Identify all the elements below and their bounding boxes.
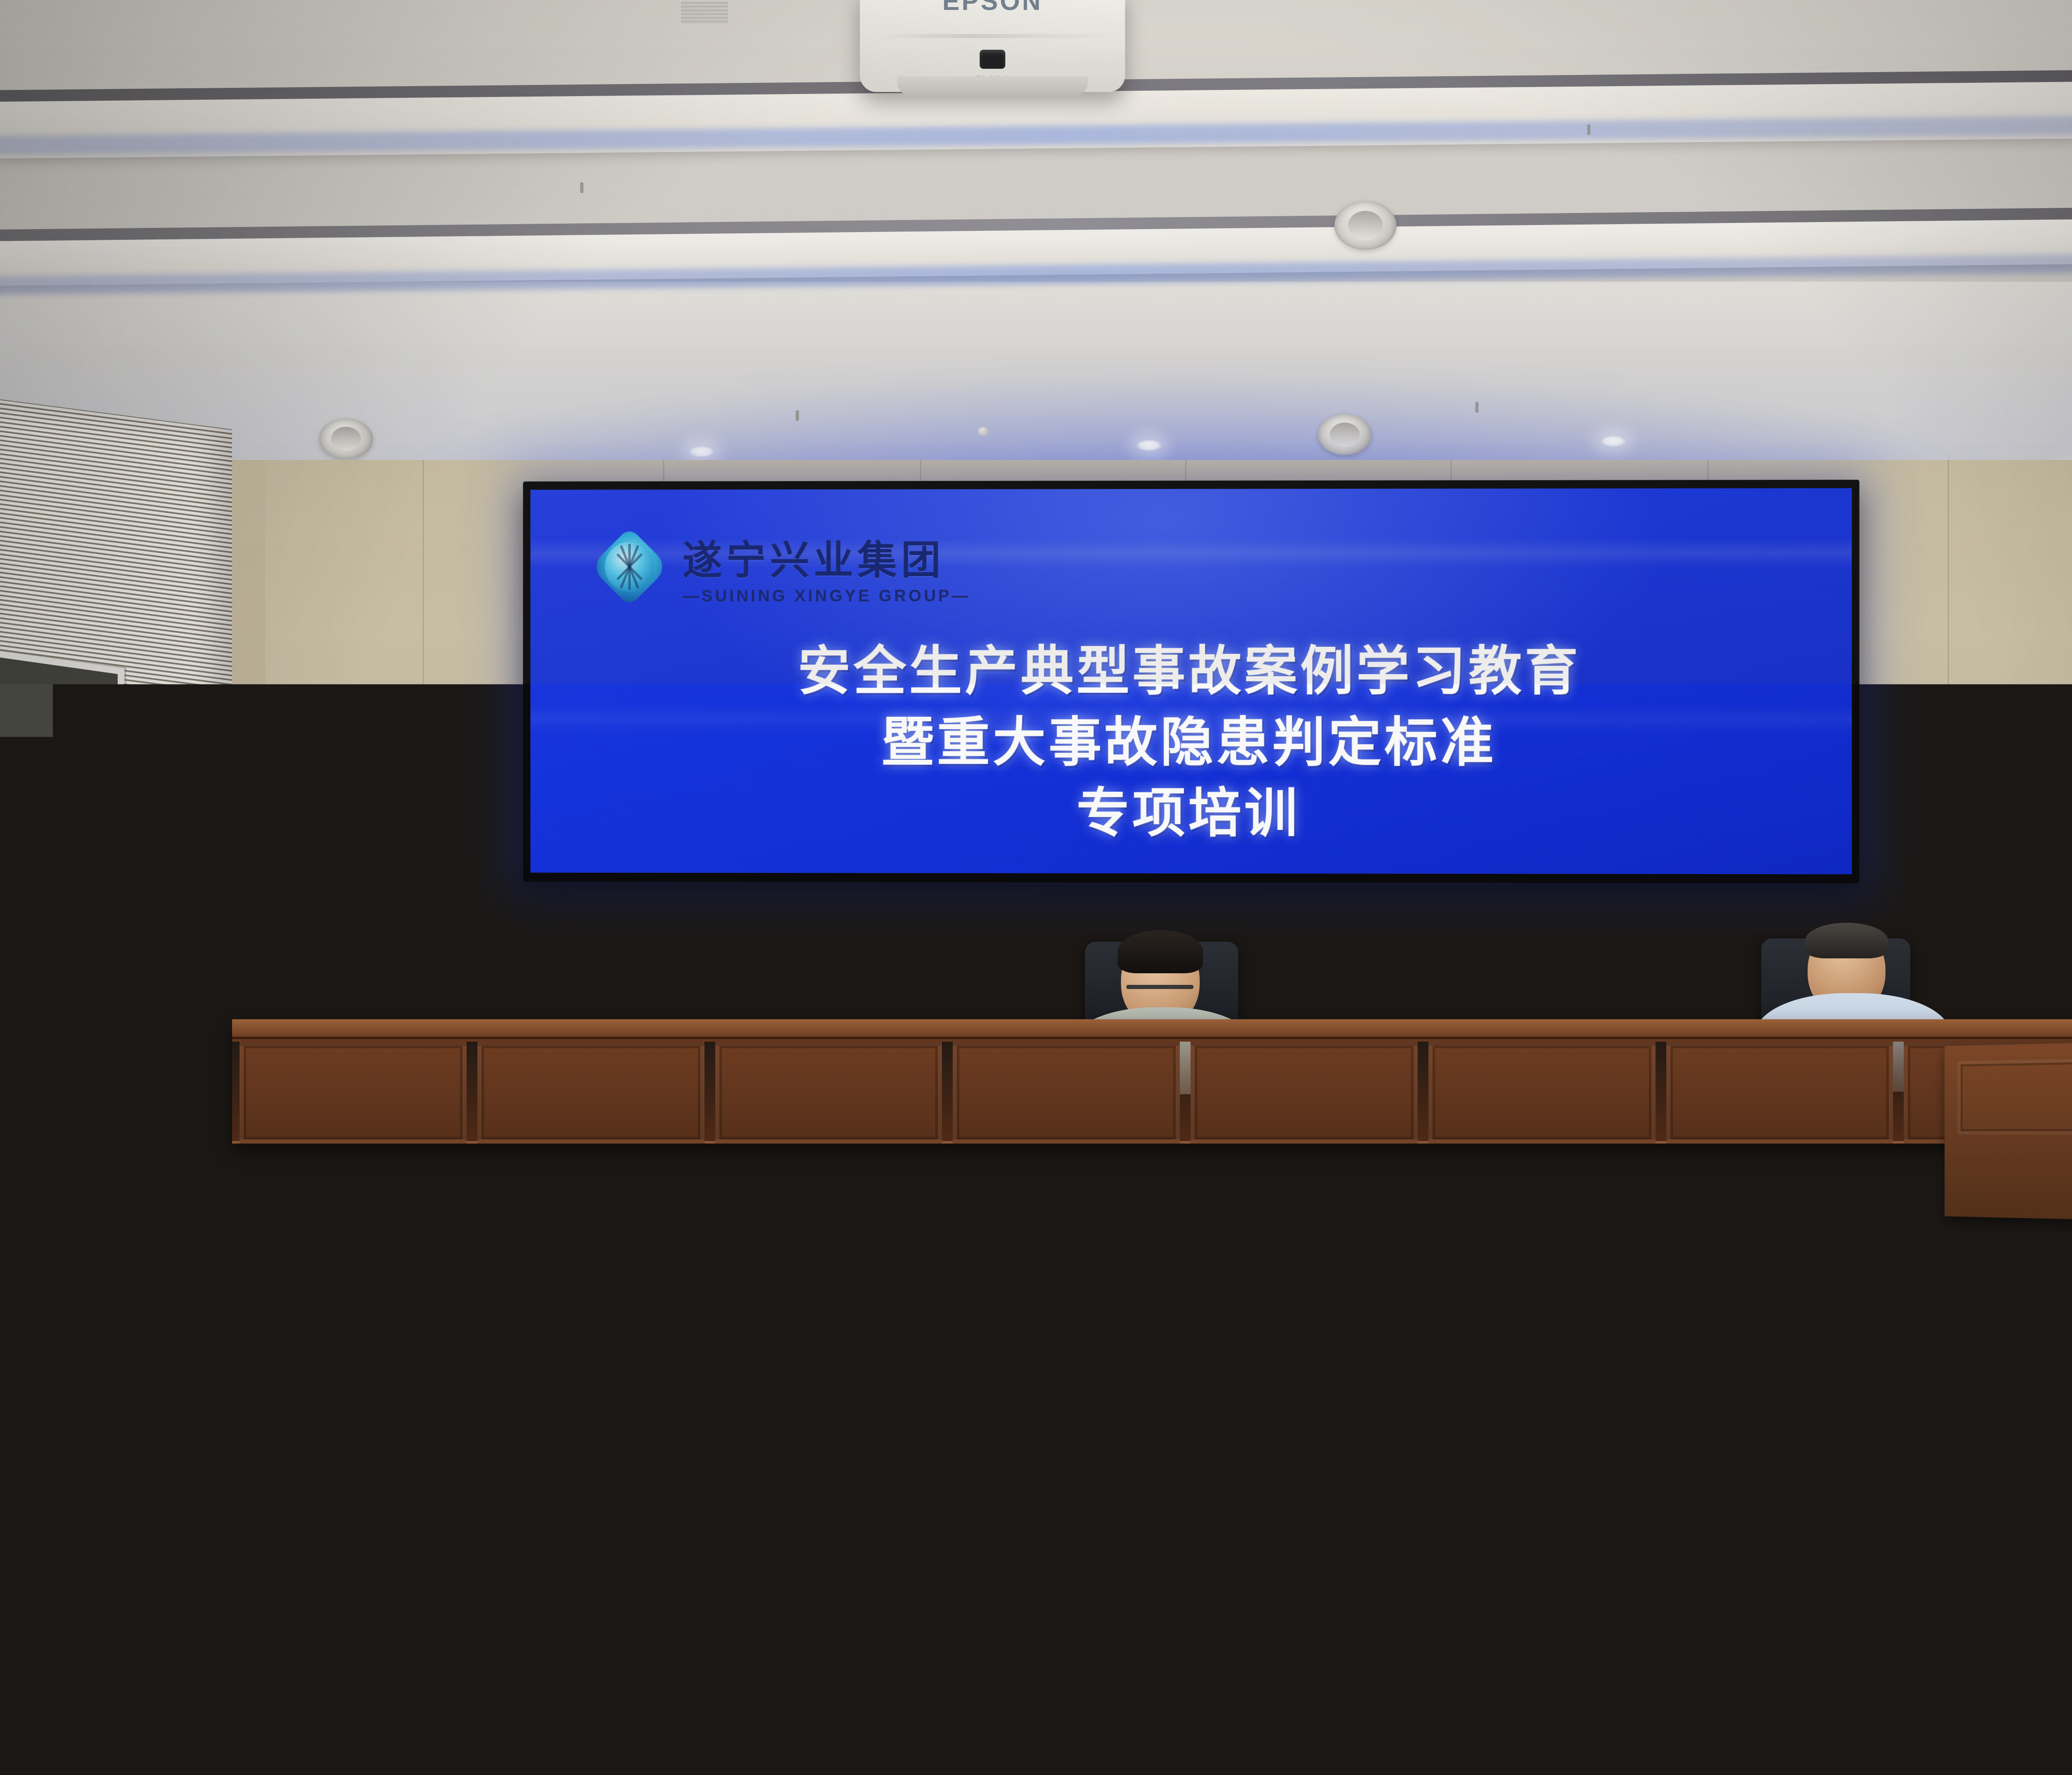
paper-cup: [518, 1724, 556, 1775]
company-name-en: —SUINING XINGYE GROUP—: [683, 587, 971, 605]
speaker-one-glasses: [1126, 985, 1193, 989]
downlight-icon: [1600, 435, 1627, 447]
slide-title-line-3: 专项培训: [530, 778, 1852, 850]
projector-brand-label: EPSON: [860, 0, 1125, 16]
attendee-head: [593, 1181, 682, 1284]
attendee-hair: [261, 1550, 385, 1724]
tea-mug: [1268, 1131, 1301, 1169]
downlight-icon: [1135, 439, 1163, 452]
bench-row-2-right: [1044, 1305, 2072, 1434]
attendee-shirt: [704, 1154, 879, 1237]
placard-emblem-icon: [1641, 1199, 1648, 1206]
tea-mug: [866, 1123, 906, 1169]
attendee-name-placard: 科企兴园 产业兴市 建设企业 贾 杰: [1628, 1197, 1711, 1231]
slide-title-line-2: 暨重大事故隐患判定标准: [530, 707, 1852, 779]
attendee-head: [1894, 1086, 1973, 1177]
ceiling: EPSON EPSON: [0, 0, 2072, 489]
attendee-shirt: [385, 1197, 564, 1289]
attendee-shirt: [89, 1173, 259, 1260]
air-diffuser-icon: [1334, 201, 1397, 250]
attendee-shirt: [1363, 1309, 1558, 1425]
window-transom: [0, 657, 118, 776]
slide-title-block: 安全生产典型事故案例学习教育 暨重大事故隐患判定标准 专项培训 2025年5月: [530, 636, 1852, 874]
attendee-head: [133, 1098, 205, 1185]
attendee-head: [750, 1077, 825, 1166]
left-side-wall: [0, 460, 265, 1164]
attendee-shirt-foreground: [1591, 1574, 1923, 1775]
left-window: [0, 649, 124, 983]
audience-seating: 科企兴园 产业兴市 建设企业 贾 杰: [0, 1061, 2072, 1775]
ceiling-hook-icon: [796, 410, 799, 421]
rostrum-top-rail: [232, 1019, 2072, 1039]
led-display-screen: 遂宁兴业集团 —SUINING XINGYE GROUP— 安全生产典型事故案例…: [523, 480, 1859, 883]
company-name-cn: 遂宁兴业集团: [683, 527, 971, 585]
company-logo: 遂宁兴业集团 —SUINING XINGYE GROUP—: [593, 524, 971, 609]
screen-content: 遂宁兴业集团 —SUINING XINGYE GROUP— 安全生产典型事故案例…: [530, 488, 1852, 874]
vent-grille-icon: [680, 0, 729, 26]
placard-slogan: 科企兴园 产业兴市 建设企业: [1649, 1199, 1698, 1205]
attendee-shirt: [543, 1272, 738, 1380]
ceiling-projector: EPSON EPSON: [860, 0, 1125, 92]
projector-lens-housing: [897, 76, 1088, 96]
downlight-icon: [688, 445, 715, 458]
bench-desk-row-3: [58, 1148, 2072, 1177]
attendee-shirt: [924, 1326, 1140, 1450]
attendee-head-foreground: [825, 1417, 974, 1591]
ceiling-hook-icon: [1587, 124, 1590, 135]
attendee-head-foreground: [1670, 1417, 1815, 1587]
ceiling-hook-icon: [580, 182, 583, 193]
air-diffuser-icon: [1318, 414, 1372, 455]
attendee-name: 贾 杰: [1644, 1205, 1696, 1230]
company-emblem-icon: [593, 524, 666, 609]
ceiling-hook-icon: [1475, 402, 1479, 413]
attendee-shirt-foreground: [742, 1574, 1077, 1775]
sprinkler-icon: [978, 427, 989, 436]
conference-hall-photo: EPSON EPSON: [0, 0, 2072, 1775]
air-diffuser-icon: [319, 418, 373, 459]
projector-lens-icon: [980, 50, 1005, 69]
slide-title-line-1: 安全生产典型事故案例学习教育: [530, 636, 1852, 707]
window-mullion: [53, 768, 59, 967]
